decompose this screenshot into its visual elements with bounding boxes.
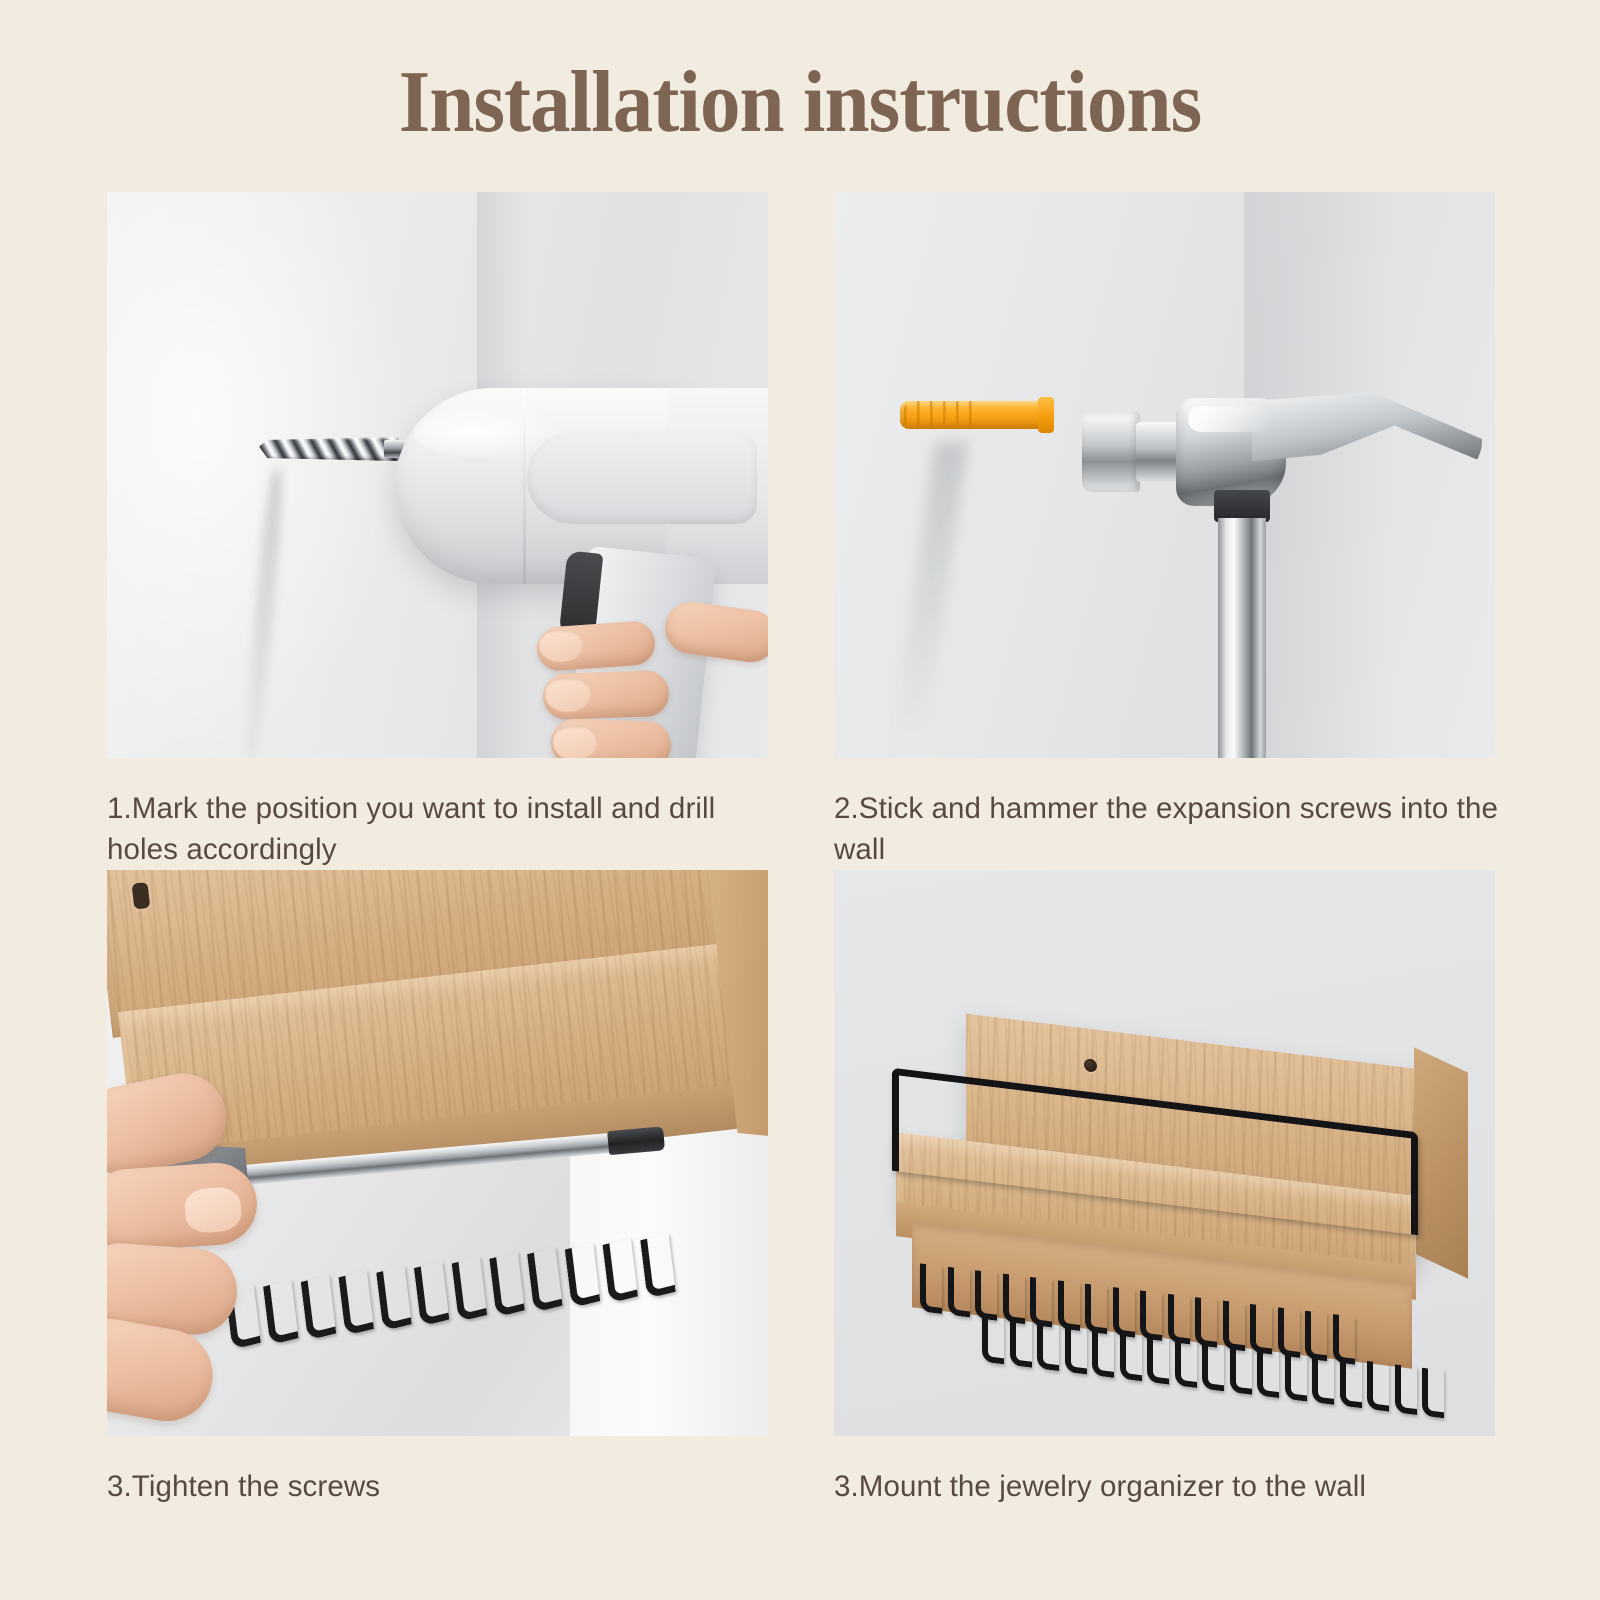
- mounting-screw: [1084, 1058, 1097, 1073]
- page-title: Installation instructions: [64, 52, 1536, 153]
- step-3-caption: 3.Tighten the screws: [107, 1466, 768, 1507]
- drill-bit-icon: [259, 437, 399, 461]
- step-card-2: 2.Stick and hammer the expansion screws …: [834, 192, 1495, 870]
- drill-grip-top: [527, 432, 757, 524]
- screw-hole: [131, 882, 150, 910]
- jewelry-organizer: [886, 1042, 1466, 1372]
- organizer-side-panel: [1414, 1047, 1468, 1278]
- hammer-head: [1082, 392, 1332, 510]
- step-1-caption: 1.Mark the position you want to install …: [107, 788, 768, 870]
- step-1-image: [107, 192, 768, 758]
- hammer-shaft: [1218, 518, 1266, 758]
- step-card-3: 3.Tighten the screws: [107, 870, 768, 1507]
- claw-hammer-icon: [1082, 380, 1482, 758]
- hand-holding-shelf: [107, 1080, 327, 1436]
- hand-gripping-drill: [537, 596, 768, 758]
- step-card-1: 1.Mark the position you want to install …: [107, 192, 768, 870]
- steps-grid: 1.Mark the position you want to install …: [107, 192, 1495, 1452]
- step-2-caption: 2.Stick and hammer the expansion screws …: [834, 788, 1504, 870]
- installation-instructions-page: Installation instructions: [0, 0, 1600, 1600]
- expansion-anchor-icon: [900, 397, 1060, 433]
- step-3-image: [107, 870, 768, 1436]
- step-4-caption: 3.Mount the jewelry organizer to the wal…: [834, 1466, 1504, 1507]
- step-4-image: [834, 870, 1495, 1436]
- step-2-image: [834, 192, 1495, 758]
- step-card-4: 3.Mount the jewelry organizer to the wal…: [834, 870, 1495, 1507]
